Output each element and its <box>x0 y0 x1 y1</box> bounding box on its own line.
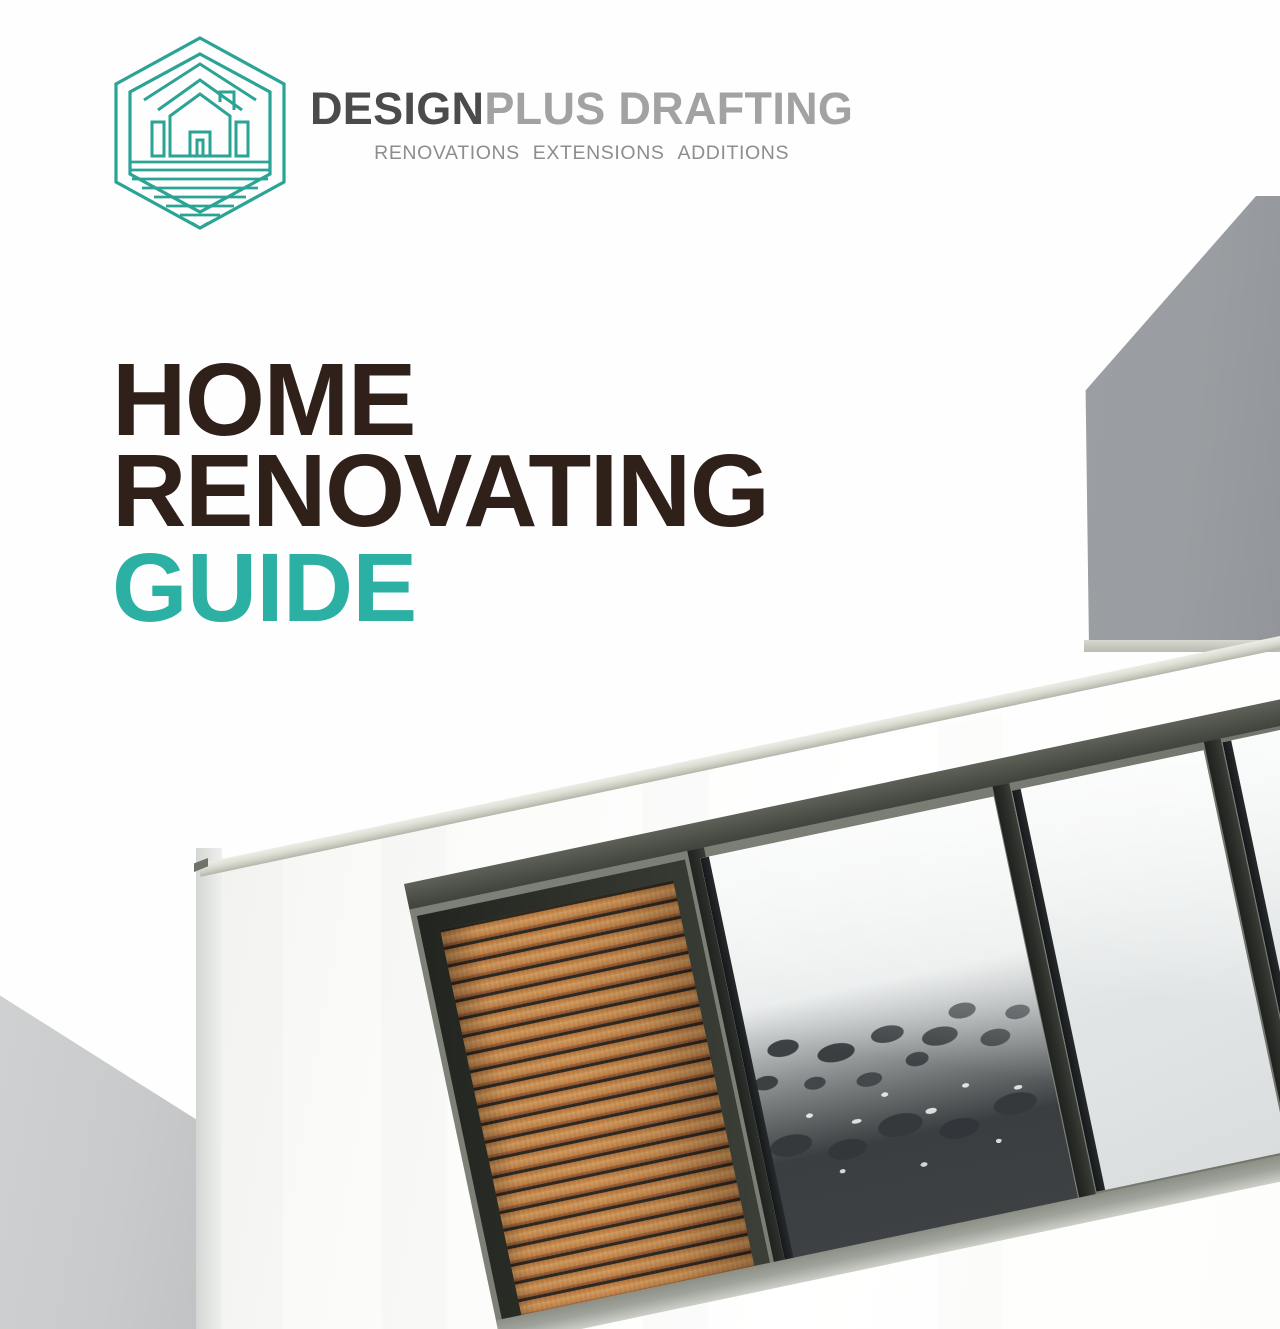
hexagon-house-badge-icon <box>108 34 292 232</box>
cover-title-line-3: GUIDE <box>112 536 768 631</box>
brand-logo-text: DESIGNPLUS DRAFTING RENOVATIONSEXTENSION… <box>310 34 853 165</box>
brand-wordmark-bold: DESIGN <box>310 83 484 134</box>
tagline-item-additions: ADDITIONS <box>678 142 790 164</box>
cover-page: DESIGNPLUS DRAFTING RENOVATIONSEXTENSION… <box>0 0 1280 1329</box>
brand-wordmark-light: PLUS DRAFTING <box>484 83 853 134</box>
cover-title-line-2: RENOVATING <box>112 445 768 536</box>
cover-title-line-1: HOME <box>112 354 768 445</box>
brand-wordmark: DESIGNPLUS DRAFTING <box>310 86 853 131</box>
background-wall-right <box>1084 196 1280 648</box>
tagline-item-extensions: EXTENSIONS <box>533 142 665 164</box>
background-wall-right-cap <box>1084 640 1280 652</box>
cover-title: HOME RENOVATING GUIDE <box>112 354 768 631</box>
tagline-item-renovations: RENOVATIONS <box>374 142 520 164</box>
brand-logo: DESIGNPLUS DRAFTING RENOVATIONSEXTENSION… <box>108 34 853 232</box>
foreground-wall-left <box>0 950 216 1329</box>
facade-left-return-edge <box>196 848 222 1329</box>
brand-tagline: RENOVATIONSEXTENSIONSADDITIONS <box>310 142 853 165</box>
